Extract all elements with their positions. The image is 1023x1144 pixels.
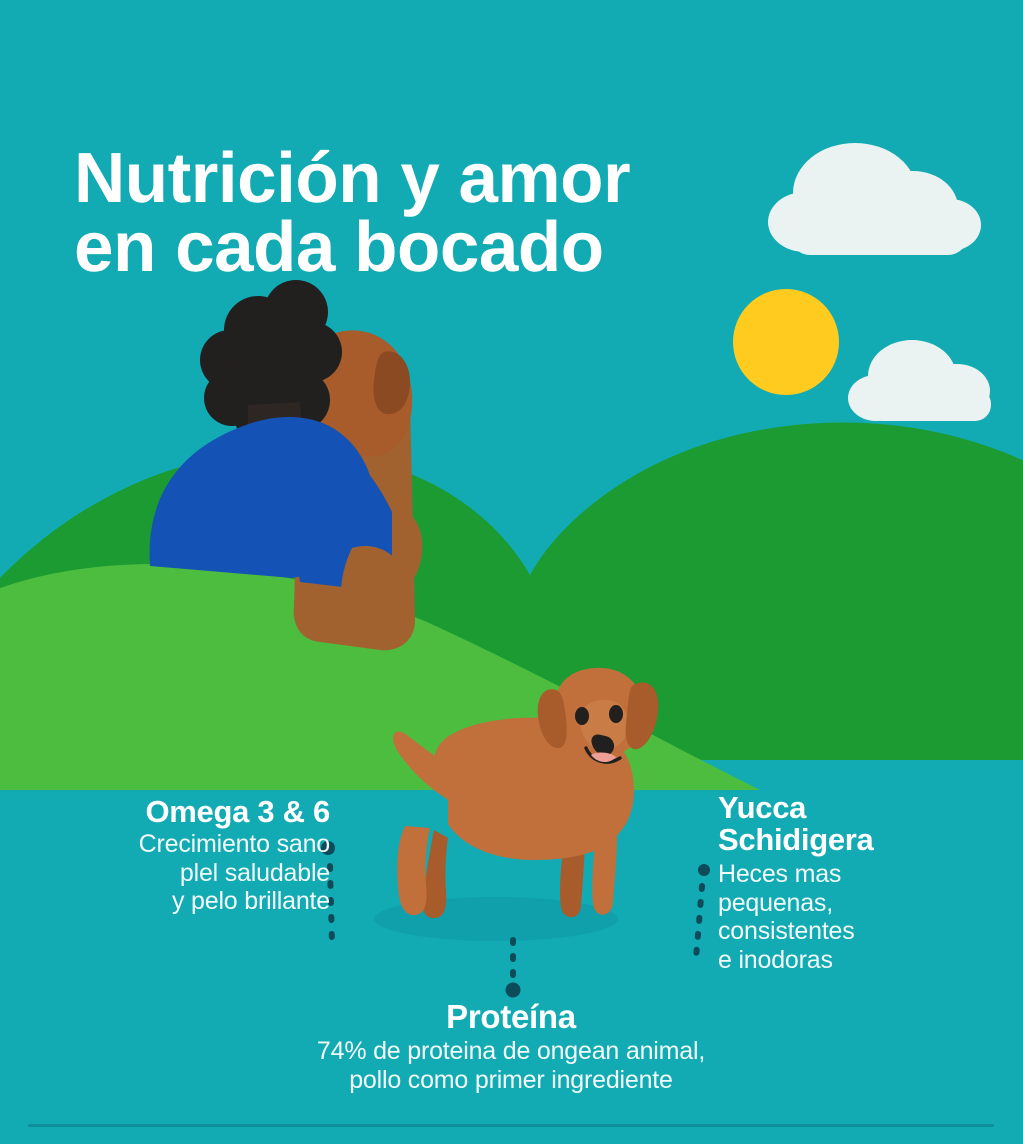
page-title: Nutrición y amor en cada bocado: [74, 144, 834, 283]
callout-protein-title: Proteína: [181, 1000, 841, 1034]
callout-omega-title: Omega 3 & 6: [0, 796, 330, 828]
dog-back-leg-near: [397, 826, 430, 915]
dog-eye-left: [575, 707, 589, 725]
callout-omega: Omega 3 & 6 Crecimiento sano plel saluda…: [0, 796, 330, 916]
callout-protein: Proteína 74% de proteina de ongean anima…: [181, 1000, 841, 1094]
bottom-divider: [28, 1124, 994, 1127]
callout-protein-body: 74% de proteina de ongean animal, pollo …: [181, 1037, 841, 1095]
callout-yucca-body: Heces mas pequenas, consistentes e inodo…: [718, 860, 998, 975]
callout-omega-body: Crecimiento sano plel saludable y pelo b…: [0, 830, 330, 916]
infographic-poster: Nutrición y amor en cada bocado Omega 3 …: [0, 0, 1023, 1144]
dog-eye-right: [609, 705, 623, 723]
callout-yucca-title: Yucca Schidigera: [718, 792, 998, 856]
connector-dot-yucca: [699, 865, 710, 876]
callout-yucca: Yucca Schidigera Heces mas pequenas, con…: [718, 792, 998, 975]
connector-dot-protein: [506, 983, 520, 997]
sun-icon: [733, 289, 839, 395]
